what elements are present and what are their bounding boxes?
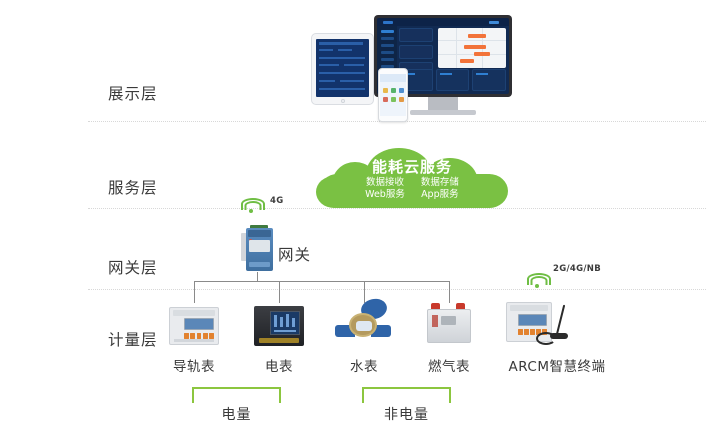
din-rail-meter-label: 导轨表	[148, 355, 240, 375]
monitor-base	[410, 110, 476, 115]
cloud-item-app-service: App服务	[421, 189, 459, 201]
cloud-services-left: 数据接收 Web服务	[365, 177, 405, 201]
layer-label-presentation: 展示层	[108, 82, 198, 104]
terminal-network-tag: 2G/4G/NB	[553, 264, 601, 274]
architecture-diagram: 展示层 服务层 网关层 计量层	[0, 0, 715, 443]
gateway-network-tag: 4G	[270, 196, 284, 206]
tablet-device	[311, 33, 374, 105]
cloud-item-web-service: Web服务	[365, 189, 405, 201]
branch-line-gas	[449, 281, 450, 303]
terminal-wifi-icon	[528, 272, 550, 288]
group-label-electric: 电量	[194, 404, 279, 424]
gas-meter-label: 燃气表	[403, 355, 495, 375]
divider-gateway-metering	[88, 289, 706, 291]
bracket-non-electric-group	[362, 387, 451, 403]
electric-meter-icon	[246, 303, 312, 349]
dashboard-map-panel	[438, 28, 506, 68]
cloud-title: 能耗云服务	[314, 156, 510, 177]
layer-label-service: 服务层	[108, 176, 198, 198]
branch-line-din	[194, 281, 195, 303]
cloud-item-data-receive: 数据接收	[365, 177, 405, 189]
electric-meter-label: 电表	[233, 355, 325, 375]
gateway-label: 网关	[278, 243, 311, 265]
gateway-device	[241, 225, 275, 273]
gas-meter-icon	[416, 302, 482, 348]
layer-label-gateway: 网关层	[108, 256, 198, 278]
arcm-terminal-label: ARCM智慧终端	[497, 355, 617, 375]
gateway-trunk-line	[257, 272, 258, 281]
smartphone-device	[378, 68, 408, 122]
phone-screen	[380, 74, 406, 116]
water-meter-label: 水表	[318, 355, 410, 375]
cloud-service-shape: 能耗云服务 数据接收 Web服务 数据存储 App服务	[314, 148, 510, 210]
group-label-non-electric: 非电量	[364, 404, 449, 424]
dashboard-topbar	[377, 18, 509, 26]
cloud-services-right: 数据存储 App服务	[421, 177, 459, 201]
dashboard-bottom-widgets	[399, 69, 506, 91]
monitor-stand	[428, 97, 458, 111]
din-rail-meter-icon	[161, 303, 227, 349]
cloud-item-data-storage: 数据存储	[421, 177, 459, 189]
bracket-electric-group	[192, 387, 281, 403]
water-meter-icon	[331, 299, 397, 345]
gateway-bus-line	[194, 281, 450, 282]
branch-line-electric	[279, 281, 280, 303]
gateway-wifi-icon	[242, 197, 264, 213]
arcm-terminal-icon	[500, 300, 586, 348]
tablet-screen	[316, 39, 369, 97]
tablet-home-button	[341, 99, 345, 103]
